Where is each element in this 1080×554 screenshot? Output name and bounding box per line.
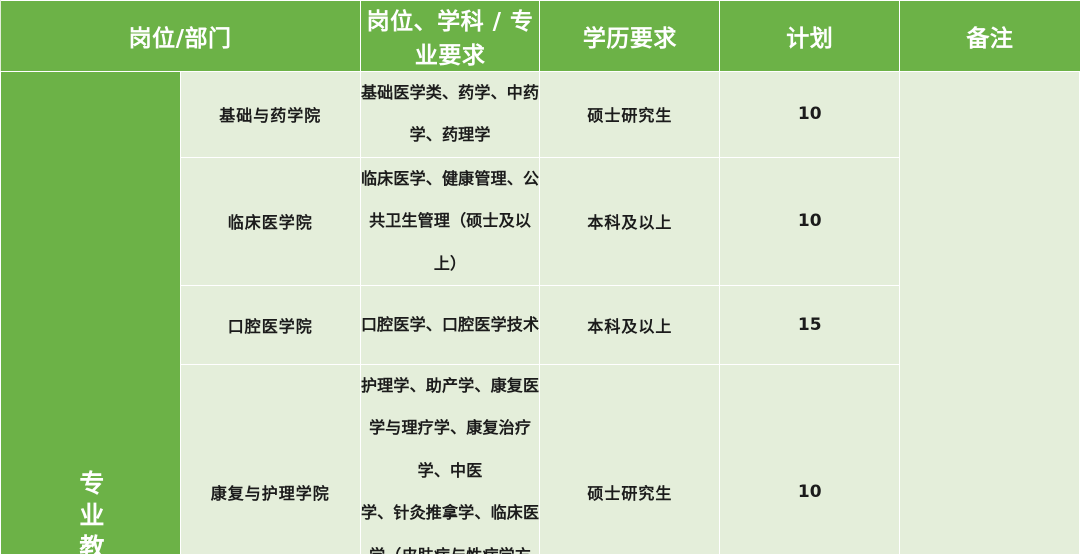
recruitment-table: 岗位/部门 岗位、学科 / 专业要求 学历要求 计划 备注 专业教师 基础与药学…: [0, 0, 1080, 554]
table-row: 专业教师 基础与药学院 基础医学类、药学、中药学、药理学 硕士研究生 10: [1, 72, 1080, 158]
table-header-row: 岗位/部门 岗位、学科 / 专业要求 学历要求 计划 备注: [1, 1, 1080, 72]
remarks-cell: [900, 72, 1080, 554]
education-cell: 本科及以上: [540, 157, 720, 285]
department-cell: 口腔医学院: [180, 285, 360, 364]
plan-cell: 10: [720, 72, 900, 158]
requirement-line: 学、针灸推拿学、临床医学（皮肤病与性病学方向）: [361, 492, 540, 554]
requirement-line: 基础医学类、药学、中药学、药理学: [361, 72, 540, 157]
requirement-cell: 基础医学类、药学、中药学、药理学: [360, 72, 540, 158]
category-cell-professional-teacher: 专业教师: [1, 72, 181, 554]
requirement-cell: 口腔医学、口腔医学技术: [360, 285, 540, 364]
requirement-cell: 临床医学、健康管理、公共卫生管理（硕士及以上）: [360, 157, 540, 285]
department-cell: 基础与药学院: [180, 72, 360, 158]
header-discipline-requirement: 岗位、学科 / 专业要求: [360, 1, 540, 72]
education-cell: 硕士研究生: [540, 72, 720, 158]
education-cell: 本科及以上: [540, 285, 720, 364]
requirement-line: 口腔医学、口腔医学技术: [361, 304, 540, 346]
plan-cell: 10: [720, 157, 900, 285]
header-position-department: 岗位/部门: [1, 1, 361, 72]
department-cell: 康复与护理学院: [180, 364, 360, 554]
category-label: 专业教师: [78, 470, 103, 554]
requirement-cell: 护理学、助产学、康复医学与理疗学、康复治疗学、中医 学、针灸推拿学、临床医学（皮…: [360, 364, 540, 554]
requirement-line: 护理学、助产学、康复医学与理疗学、康复治疗学、中医: [361, 365, 540, 492]
department-cell: 临床医学院: [180, 157, 360, 285]
requirement-line: 临床医学、健康管理、公共卫生管理（硕士及以上）: [361, 158, 540, 285]
table-header: 岗位/部门 岗位、学科 / 专业要求 学历要求 计划 备注: [1, 1, 1080, 72]
table-body: 专业教师 基础与药学院 基础医学类、药学、中药学、药理学 硕士研究生 10 临床…: [1, 72, 1080, 554]
header-education-requirement: 学历要求: [540, 1, 720, 72]
plan-cell: 15: [720, 285, 900, 364]
education-cell: 硕士研究生: [540, 364, 720, 554]
plan-cell: 10: [720, 364, 900, 554]
header-plan: 计划: [720, 1, 900, 72]
header-remarks: 备注: [900, 1, 1080, 72]
recruitment-table-document: 岗位/部门 岗位、学科 / 专业要求 学历要求 计划 备注 专业教师 基础与药学…: [0, 0, 1080, 554]
